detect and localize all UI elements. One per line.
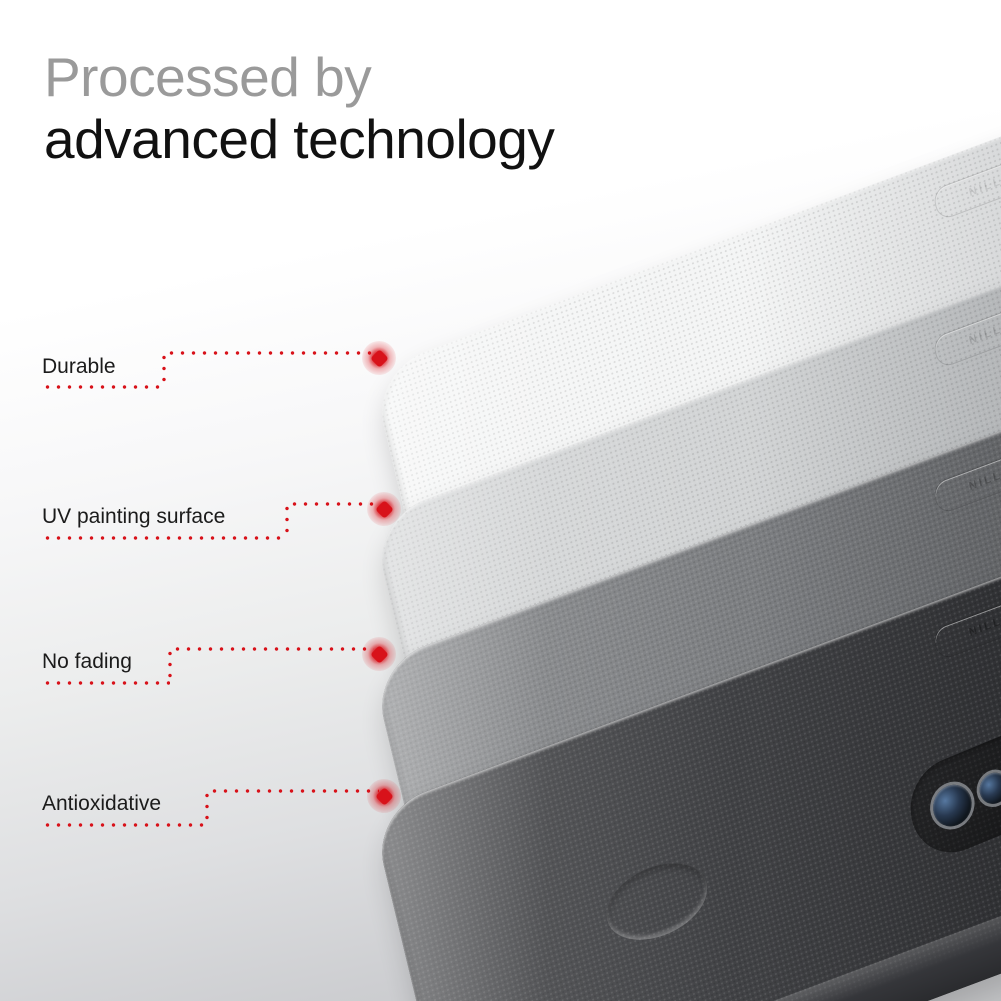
callout-layer: DurableUV painting surfaceNo fadingAntio…	[0, 0, 1001, 1001]
callout-riser	[285, 503, 289, 539]
callout-leader-line	[172, 647, 374, 651]
callout-riser	[168, 648, 172, 684]
callout-leader-line	[166, 351, 374, 355]
callout-label: Antioxidative	[42, 792, 161, 816]
product-feature-image: NILLKINNILLKINNILLKINNILLKIN Processed b…	[0, 0, 1001, 1001]
callout-leader-line	[289, 502, 379, 506]
callout-marker-icon	[367, 779, 401, 813]
callout-underline	[42, 536, 287, 540]
callout-marker-core	[375, 500, 393, 518]
callout-leader-line	[209, 789, 379, 793]
callout-marker-icon	[362, 637, 396, 671]
callout-marker-core	[370, 349, 388, 367]
callout-label: No fading	[42, 650, 132, 674]
callout-underline	[42, 385, 164, 389]
callout-riser	[205, 790, 209, 826]
callout-underline	[42, 823, 207, 827]
callout-label: UV painting surface	[42, 505, 225, 529]
callout-marker-icon	[362, 341, 396, 375]
callout-label: Durable	[42, 355, 116, 379]
callout-marker-core	[375, 787, 393, 805]
callout-marker-icon	[367, 492, 401, 526]
callout-underline	[42, 681, 170, 685]
callout-riser	[162, 352, 166, 388]
callout-marker-core	[370, 645, 388, 663]
